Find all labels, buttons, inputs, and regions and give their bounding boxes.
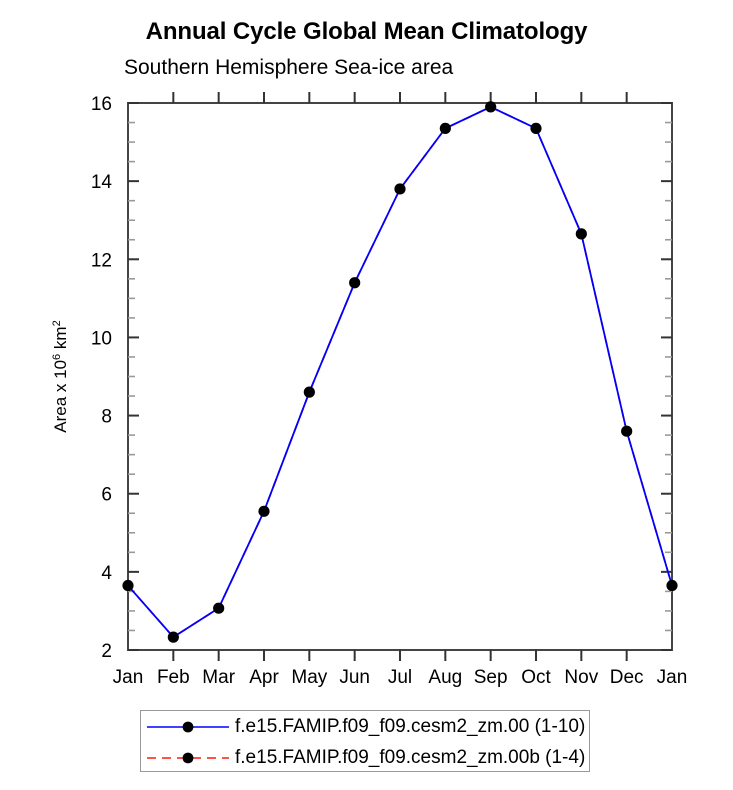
svg-text:Jan: Jan [113,667,144,688]
data-point-marker [576,228,587,239]
x-axis-ticks [173,92,626,661]
legend-item-label: f.e15.FAMIP.f09_f09.cesm2_zm.00 (1-10) [235,717,585,736]
legend-item-label: f.e15.FAMIP.f09_f09.cesm2_zm.00b (1-4) [235,748,585,767]
data-point-marker [258,506,269,517]
chart-page: Annual Cycle Global Mean Climatology Sou… [0,0,733,790]
data-point-marker [666,580,677,591]
svg-text:14: 14 [91,172,113,193]
data-series-layer [122,101,677,642]
svg-text:Jun: Jun [339,667,370,688]
svg-text:Oct: Oct [521,667,551,688]
data-point-marker [394,183,405,194]
legend-item-0[interactable]: f.e15.FAMIP.f09_f09.cesm2_zm.00 (1-10) [141,711,589,742]
data-point-marker [349,277,360,288]
svg-text:Dec: Dec [610,667,644,688]
svg-text:16: 16 [91,94,112,115]
y-axis-title: Area x 106 km2 [51,320,70,432]
data-point-marker [440,123,451,134]
svg-text:Jan: Jan [657,667,688,688]
svg-text:Sep: Sep [474,667,508,688]
data-point-marker [122,580,133,591]
x-axis-tick-labels: JanFebMarAprMayJunJulAugSepOctNovDecJan [113,667,688,688]
svg-text:May: May [291,667,327,688]
svg-text:Area x 106 km2: Area x 106 km2 [51,320,70,432]
y-axis-tick-labels: 246810121416 [91,94,113,662]
data-point-marker [213,603,224,614]
svg-text:12: 12 [91,250,112,271]
svg-text:10: 10 [91,328,112,349]
svg-text:4: 4 [101,563,112,584]
data-point-marker [168,632,179,643]
svg-text:Jul: Jul [388,667,412,688]
svg-text:Apr: Apr [249,667,279,688]
svg-text:Nov: Nov [564,667,598,688]
data-point-marker [304,387,315,398]
data-point-marker [485,101,496,112]
svg-text:Aug: Aug [428,667,462,688]
plot-area: 246810121416 JanFebMarAprMayJunJulAugSep… [0,0,733,700]
svg-text:6: 6 [101,485,112,506]
svg-text:Feb: Feb [157,667,190,688]
data-point-marker [530,123,541,134]
svg-text:8: 8 [101,407,112,428]
chart-legend: f.e15.FAMIP.f09_f09.cesm2_zm.00 (1-10) f… [140,710,590,772]
legend-item-1[interactable]: f.e15.FAMIP.f09_f09.cesm2_zm.00b (1-4) [141,742,589,773]
legend-line-sample-solid [141,711,235,742]
y-axis-minor-ticks [128,123,672,631]
svg-text:2: 2 [101,641,112,662]
svg-text:Mar: Mar [202,667,235,688]
data-point-marker [621,426,632,437]
legend-line-sample-dashed [141,742,235,773]
